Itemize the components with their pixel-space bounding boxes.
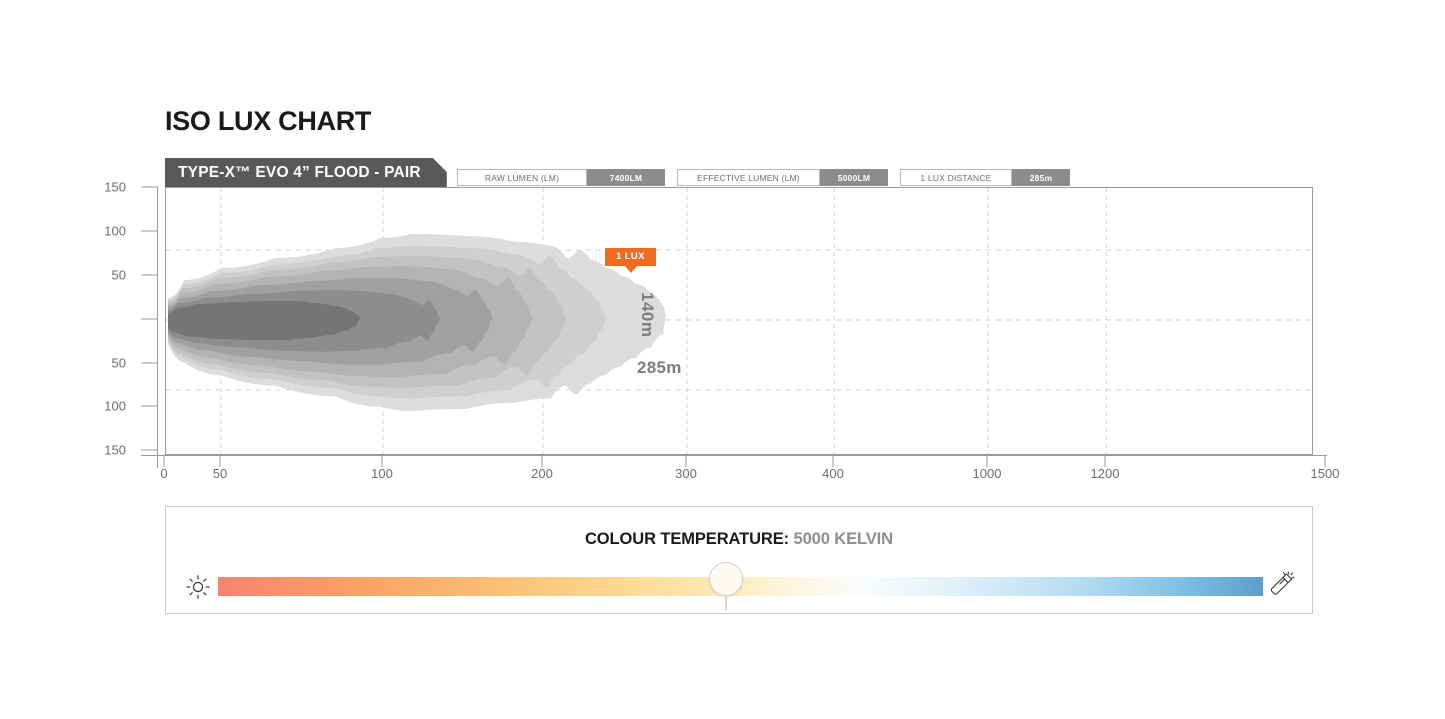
spec-chip-effective-lumen: EFFECTIVE LUMEN (LM) 5000LM <box>677 169 888 186</box>
y-axis-tick <box>141 187 158 188</box>
spec-chip-group: RAW LUMEN (LM) 7400LM EFFECTIVE LUMEN (L… <box>457 169 1070 186</box>
x-axis-tick-label: 0 <box>160 466 167 481</box>
product-badge: TYPE-X™ EVO 4” FLOOD - PAIR <box>165 158 447 188</box>
y-axis-tick-label: 100 <box>104 224 126 239</box>
flashlight-icon <box>1269 571 1295 601</box>
colour-temperature-slider-row[interactable] <box>166 564 1312 608</box>
beam-contour <box>168 301 360 340</box>
x-axis-tick-label: 1200 <box>1091 466 1120 481</box>
spec-chip-lux-distance: 1 LUX DISTANCE 285m <box>900 169 1070 186</box>
plot-frame <box>165 187 1313 455</box>
beam-pattern-svg <box>166 188 1313 455</box>
x-axis-tick-label: 100 <box>371 466 393 481</box>
spec-chip-lux-distance-label: 1 LUX DISTANCE <box>900 169 1012 186</box>
spec-chip-raw-lumen-value: 7400LM <box>587 169 665 186</box>
iso-lux-chart-page: ISO LUX CHART TYPE-X™ EVO 4” FLOOD - PAI… <box>0 0 1445 719</box>
plot-area <box>165 187 1313 455</box>
x-axis-tick-label: 300 <box>675 466 697 481</box>
x-axis-tick-label: 50 <box>213 466 227 481</box>
lux-pointer-arrow <box>625 266 637 273</box>
x-axis-tick-label: 200 <box>531 466 553 481</box>
spec-chip-lux-distance-value: 285m <box>1012 169 1070 186</box>
y-axis-tick <box>141 319 158 320</box>
colour-temperature-title: COLOUR TEMPERATURE: 5000 KELVIN <box>166 530 1312 549</box>
beam-distance-label: 285m <box>637 358 682 378</box>
y-axis-tick <box>141 231 158 232</box>
spec-chip-effective-lumen-label: EFFECTIVE LUMEN (LM) <box>677 169 820 186</box>
page-title: ISO LUX CHART <box>165 106 371 137</box>
colour-temperature-value: 5000 KELVIN <box>794 530 893 548</box>
x-axis-labels: 050100200300400100012001500 <box>0 455 1445 487</box>
y-axis-tick-label: 50 <box>112 356 126 371</box>
sun-icon <box>185 574 211 600</box>
spec-chip-raw-lumen: RAW LUMEN (LM) 7400LM <box>457 169 665 186</box>
y-axis-tick <box>141 275 158 276</box>
y-axis-tick-label: 100 <box>104 399 126 414</box>
colour-temperature-panel: COLOUR TEMPERATURE: 5000 KELVIN <box>165 506 1313 614</box>
lux-marker: 1 LUX <box>605 246 656 266</box>
spec-chip-effective-lumen-value: 5000LM <box>820 169 888 186</box>
x-axis-tick-label: 1000 <box>973 466 1002 481</box>
x-axis-tick-label: 400 <box>822 466 844 481</box>
y-axis-tick-label: 50 <box>112 268 126 283</box>
colour-temperature-handle-stem <box>725 596 727 611</box>
colour-temperature-handle[interactable] <box>709 562 743 596</box>
spec-chip-raw-lumen-label: RAW LUMEN (LM) <box>457 169 587 186</box>
colour-temperature-title-label: COLOUR TEMPERATURE: <box>585 530 789 548</box>
product-badge-row: TYPE-X™ EVO 4” FLOOD - PAIR <box>165 158 447 188</box>
y-axis-tick <box>141 406 158 407</box>
beam-width-label: 140m <box>637 292 657 337</box>
y-axis-tick-label: 150 <box>104 180 126 195</box>
y-axis-labels: 1501005050100150 <box>0 187 158 455</box>
lux-pill-label: 1 LUX <box>605 248 656 266</box>
y-axis-tick <box>141 363 158 364</box>
x-axis-tick-label: 1500 <box>1311 466 1340 481</box>
y-axis-tick <box>141 450 158 451</box>
